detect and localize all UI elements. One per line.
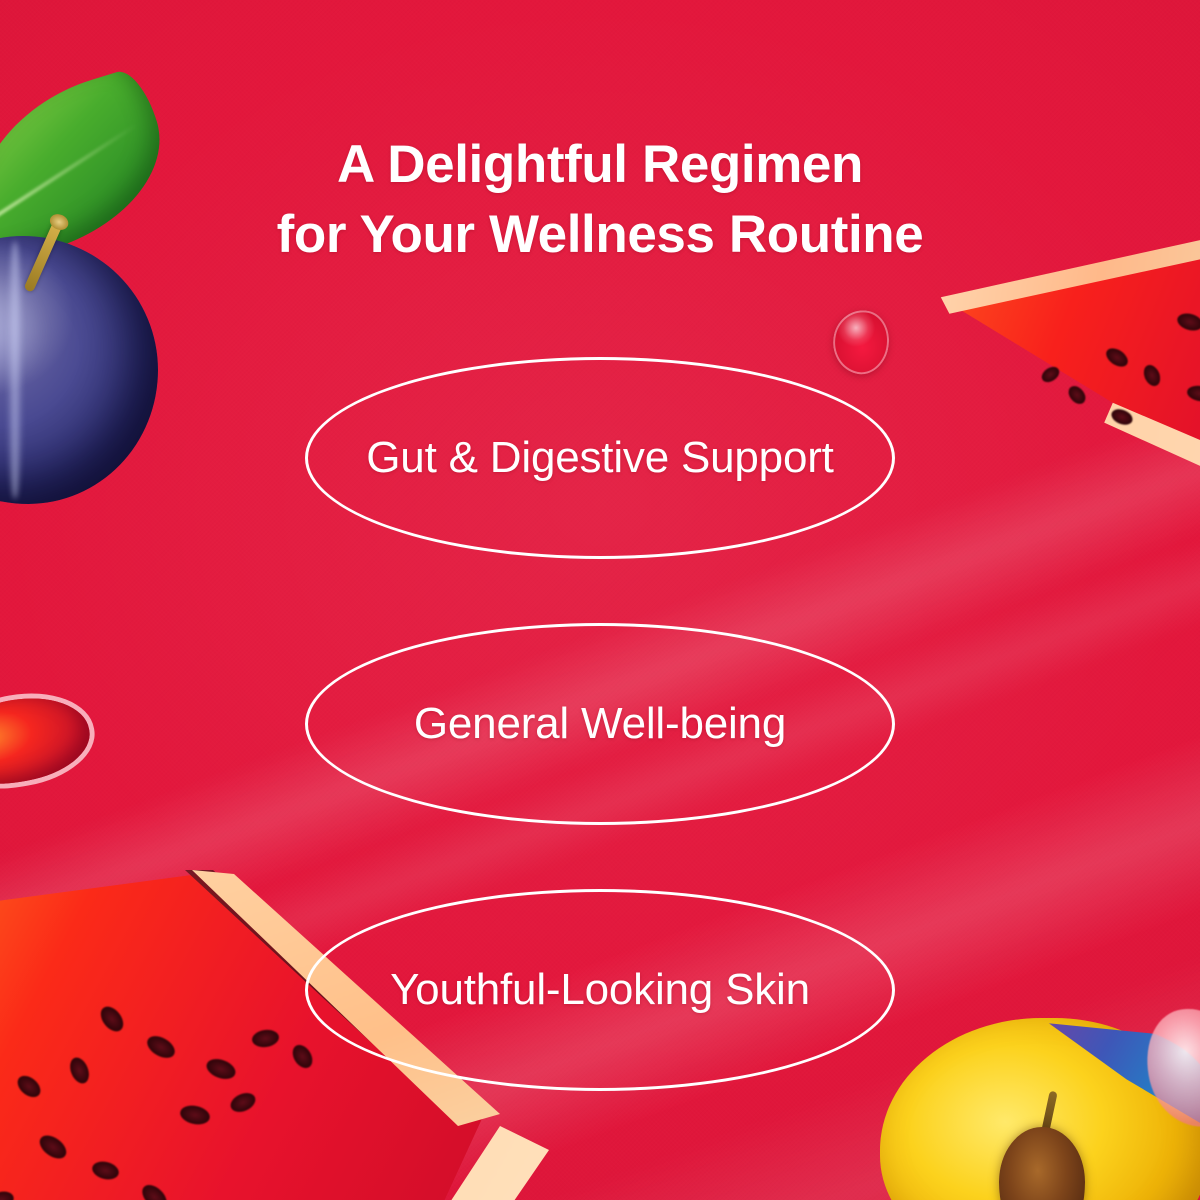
benefit-badge-label: General Well-being [360,695,840,754]
headline-line-1: A Delightful Regimen [337,135,863,194]
benefit-badge-general-well-being[interactable]: General Well-being [305,623,895,825]
benefit-badge-label: Youthful-Looking Skin [336,961,864,1020]
benefit-badge-youthful-looking-skin[interactable]: Youthful-Looking Skin [305,889,895,1091]
benefit-badge-gut-digestive-support[interactable]: Gut & Digestive Support [305,357,895,559]
promo-canvas: A Delightful Regimen for Your Wellness R… [0,0,1200,1200]
page-title: A Delightful Regimen for Your Wellness R… [0,130,1200,271]
benefit-badge-label: Gut & Digestive Support [312,429,887,488]
content-layer: A Delightful Regimen for Your Wellness R… [0,0,1200,1200]
headline-line-2: for Your Wellness Routine [0,200,1200,270]
